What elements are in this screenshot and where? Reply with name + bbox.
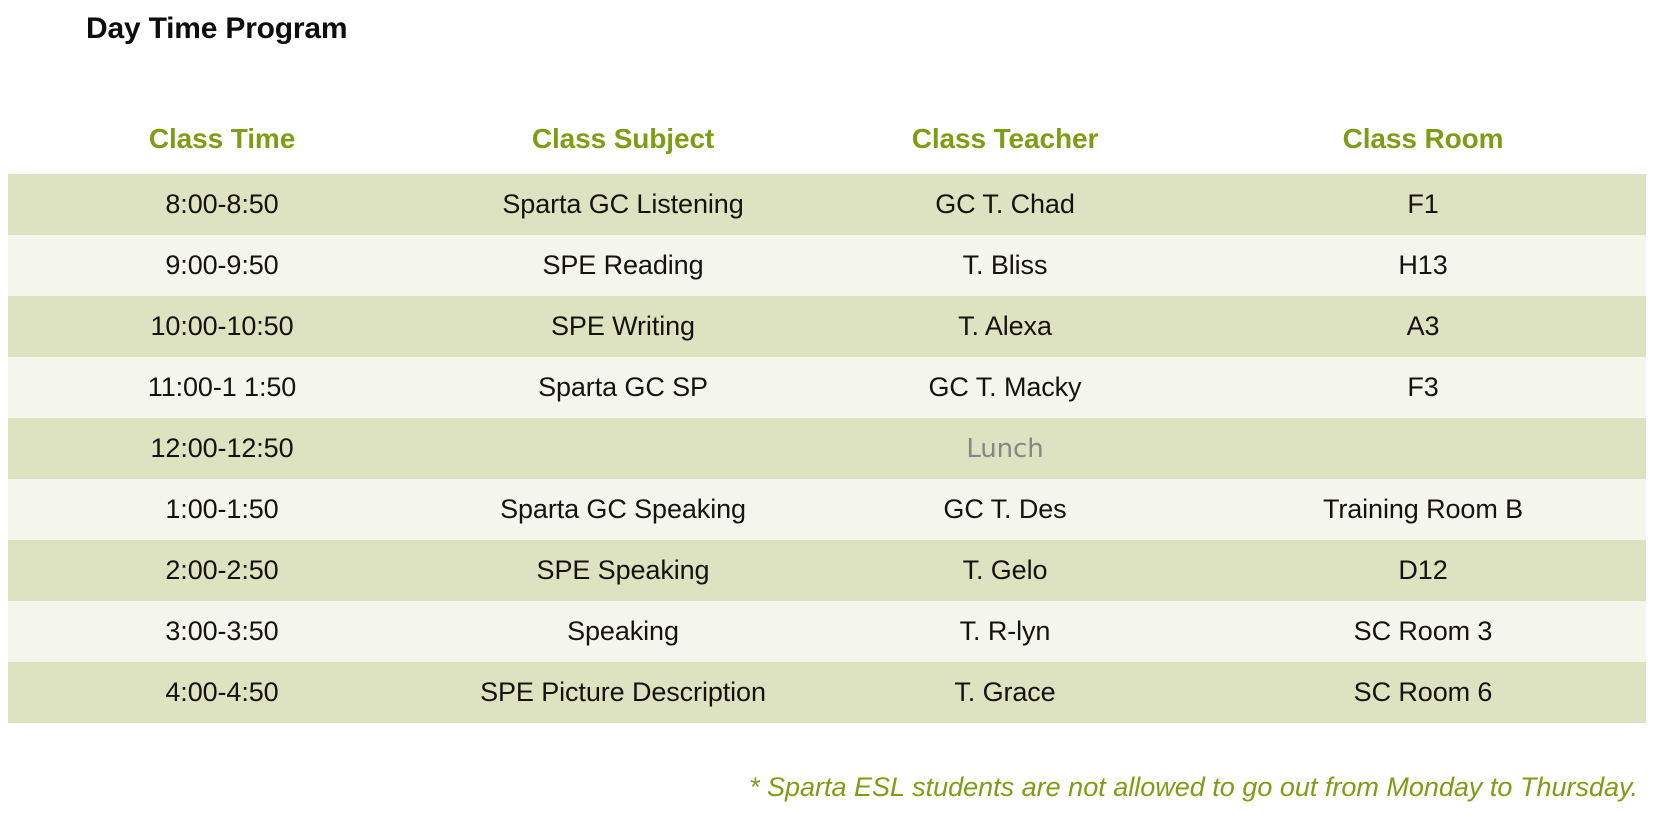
cell-time: 11:00-1 1:50: [8, 357, 436, 418]
day-time-program-page: Day Time Program Class Time Class Subjec…: [0, 0, 1654, 827]
column-header-class-subject: Class Subject: [436, 104, 810, 174]
table-row: 11:00-1 1:50Sparta GC SPGC T. MackyF3: [8, 357, 1646, 418]
cell-subject: SPE Reading: [436, 235, 810, 296]
cell-teacher: GC T. Macky: [810, 357, 1200, 418]
cell-lunch-label: Lunch: [810, 418, 1200, 479]
table-row: 4:00-4:50SPE Picture DescriptionT. Grace…: [8, 662, 1646, 723]
cell-subject: [436, 418, 810, 479]
table-row: 10:00-10:50SPE WritingT. AlexaA3: [8, 296, 1646, 357]
class-schedule-table: Class Time Class Subject Class Teacher C…: [8, 104, 1646, 723]
table-row: 2:00-2:50SPE SpeakingT. GeloD12: [8, 540, 1646, 601]
cell-time: 4:00-4:50: [8, 662, 436, 723]
cell-teacher: T. Bliss: [810, 235, 1200, 296]
table-row: 9:00-9:50SPE ReadingT. BlissH13: [8, 235, 1646, 296]
table-body: 8:00-8:50Sparta GC ListeningGC T. ChadF1…: [8, 174, 1646, 723]
cell-time: 12:00-12:50: [8, 418, 436, 479]
cell-subject: Sparta GC Listening: [436, 174, 810, 235]
table-row: 3:00-3:50SpeakingT. R-lynSC Room 3: [8, 601, 1646, 662]
cell-room: D12: [1200, 540, 1646, 601]
column-header-class-time: Class Time: [8, 104, 436, 174]
cell-room: H13: [1200, 235, 1646, 296]
cell-subject: Sparta GC Speaking: [436, 479, 810, 540]
cell-room: [1200, 418, 1646, 479]
cell-room: A3: [1200, 296, 1646, 357]
cell-room: F3: [1200, 357, 1646, 418]
column-header-class-room: Class Room: [1200, 104, 1646, 174]
cell-subject: SPE Picture Description: [436, 662, 810, 723]
cell-subject: SPE Speaking: [436, 540, 810, 601]
cell-teacher: GC T. Des: [810, 479, 1200, 540]
table-row: 8:00-8:50Sparta GC ListeningGC T. ChadF1: [8, 174, 1646, 235]
page-title: Day Time Program: [86, 12, 347, 46]
cell-room: F1: [1200, 174, 1646, 235]
cell-room: Training Room B: [1200, 479, 1646, 540]
cell-subject: Sparta GC SP: [436, 357, 810, 418]
cell-time: 2:00-2:50: [8, 540, 436, 601]
cell-room: SC Room 3: [1200, 601, 1646, 662]
cell-time: 3:00-3:50: [8, 601, 436, 662]
table-row: 12:00-12:50Lunch: [8, 418, 1646, 479]
cell-teacher: T. R-lyn: [810, 601, 1200, 662]
header-row: Class Time Class Subject Class Teacher C…: [8, 104, 1646, 174]
footnote-note: * Sparta ESL students are not allowed to…: [749, 772, 1638, 803]
cell-teacher: GC T. Chad: [810, 174, 1200, 235]
cell-time: 8:00-8:50: [8, 174, 436, 235]
cell-teacher: T. Alexa: [810, 296, 1200, 357]
table-row: 1:00-1:50Sparta GC SpeakingGC T. DesTrai…: [8, 479, 1646, 540]
column-header-class-teacher: Class Teacher: [810, 104, 1200, 174]
cell-subject: SPE Writing: [436, 296, 810, 357]
cell-room: SC Room 6: [1200, 662, 1646, 723]
cell-subject: Speaking: [436, 601, 810, 662]
cell-time: 1:00-1:50: [8, 479, 436, 540]
table-header: Class Time Class Subject Class Teacher C…: [8, 104, 1646, 174]
cell-teacher: T. Gelo: [810, 540, 1200, 601]
cell-teacher: T. Grace: [810, 662, 1200, 723]
cell-time: 10:00-10:50: [8, 296, 436, 357]
cell-time: 9:00-9:50: [8, 235, 436, 296]
